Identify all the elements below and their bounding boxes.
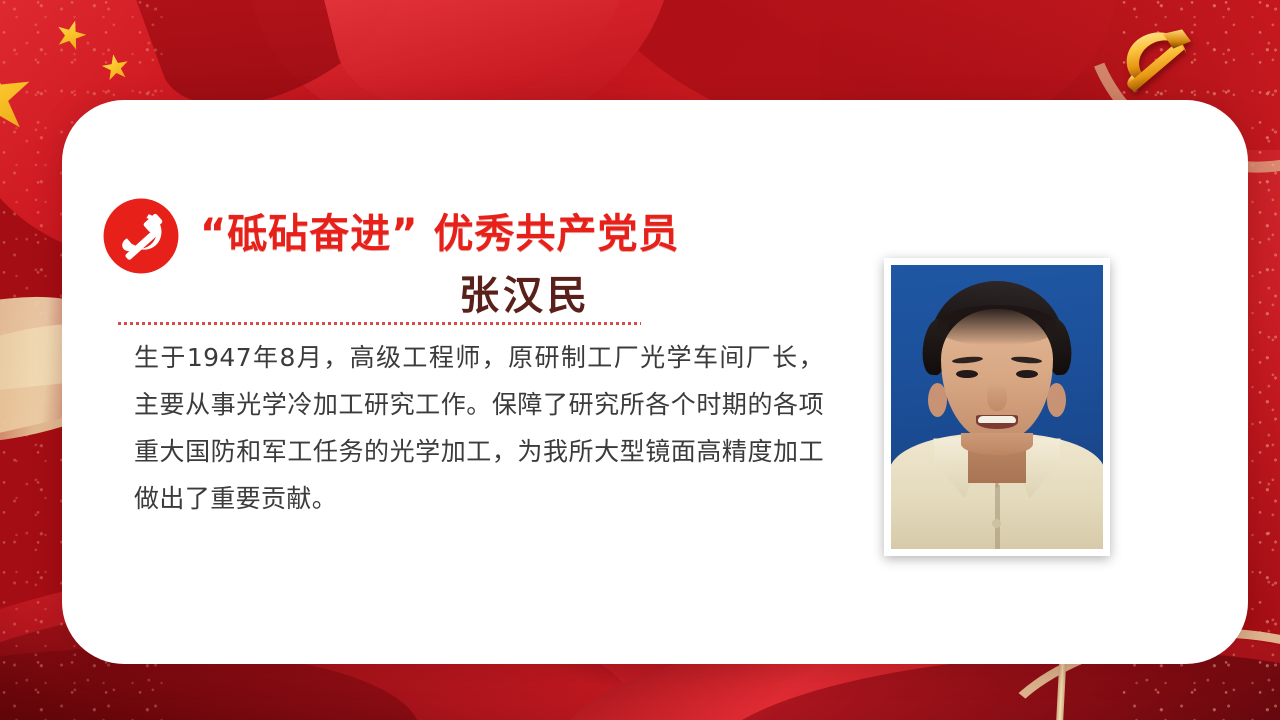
portrait-button (992, 519, 1001, 528)
portrait-chin (961, 433, 1033, 455)
party-emblem-badge-icon (102, 197, 180, 275)
dotted-divider (118, 322, 641, 325)
hammer-and-sickle-gold-emblem-icon (1108, 22, 1200, 96)
flag-star-large-icon (0, 54, 36, 140)
portrait-fringe (937, 305, 1057, 345)
flag-star-small-2-icon (100, 52, 131, 83)
biography-paragraph: 生于1947年8月，高级工程师，原研制工厂光学车间厂长，主要从事光学冷加工研究工… (134, 334, 824, 522)
portrait-photo (891, 265, 1103, 549)
portrait-nose (987, 383, 1007, 411)
portrait-teeth (978, 416, 1016, 423)
portrait-mouth (976, 415, 1018, 429)
portrait-eye-left (956, 370, 978, 378)
slide-canvas: “砥砧奋进” 优秀共产党员 张汉民 生于1947年8月，高级工程师，原研制工厂光… (0, 0, 1280, 720)
content-card: “砥砧奋进” 优秀共产党员 张汉民 生于1947年8月，高级工程师，原研制工厂光… (62, 100, 1248, 664)
flag-star-small-1-icon (52, 16, 89, 53)
portrait-eye-right (1016, 370, 1038, 378)
person-name: 张汉民 (200, 263, 850, 321)
page-title: “砥砧奋进” 优秀共产党员 (200, 201, 850, 259)
portrait-ear-right (1047, 383, 1066, 417)
portrait-frame (884, 258, 1110, 556)
portrait-placket (995, 485, 1000, 549)
